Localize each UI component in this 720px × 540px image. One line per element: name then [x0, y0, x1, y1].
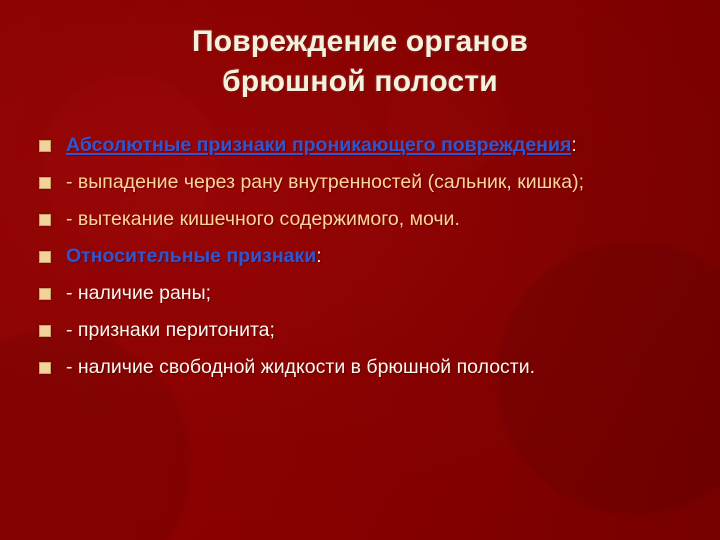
list-item-text: - вытекание кишечного содержимого, мочи. — [66, 206, 690, 232]
absolute-signs-heading-text: Абсолютные признаки проникающего поврежд… — [66, 134, 571, 156]
list-item: - признаки перитонита; — [34, 317, 690, 343]
square-bullet-icon — [39, 362, 51, 374]
absolute-signs-heading-colon: : — [571, 134, 576, 156]
square-bullet-icon — [39, 140, 51, 152]
list-item-text: Абсолютные признаки проникающего поврежд… — [66, 132, 690, 158]
square-bullet-icon — [39, 214, 51, 226]
relative-signs-heading-text: Относительные признаки — [66, 245, 316, 267]
list-item: - выпадение через рану внутренностей (са… — [34, 169, 690, 195]
page-title: Повреждение органов брюшной полости — [0, 22, 720, 102]
bullet-list: Абсолютные признаки проникающего поврежд… — [34, 132, 690, 380]
list-item-text: - наличие раны; — [66, 280, 690, 306]
square-bullet-icon — [39, 177, 51, 189]
slide-canvas: Повреждение органов брюшной полости Абсо… — [0, 0, 720, 540]
square-bullet-icon — [39, 251, 51, 263]
list-item: - наличие раны; — [34, 280, 690, 306]
list-item: - наличие свободной жидкости в брюшной п… — [34, 354, 690, 380]
page-title-line-1: Повреждение органов — [0, 22, 720, 62]
list-item: Относительные признаки: — [34, 243, 690, 269]
list-item-text: - выпадение через рану внутренностей (са… — [66, 169, 690, 195]
list-item-text: Относительные признаки: — [66, 243, 690, 269]
square-bullet-icon — [39, 325, 51, 337]
list-item: Абсолютные признаки проникающего поврежд… — [34, 132, 690, 158]
page-title-line-2: брюшной полости — [0, 62, 720, 102]
relative-signs-heading-colon: : — [316, 245, 321, 267]
list-item-text: - признаки перитонита; — [66, 317, 690, 343]
square-bullet-icon — [39, 288, 51, 300]
list-item: - вытекание кишечного содержимого, мочи. — [34, 206, 690, 232]
list-item-text: - наличие свободной жидкости в брюшной п… — [66, 354, 690, 380]
